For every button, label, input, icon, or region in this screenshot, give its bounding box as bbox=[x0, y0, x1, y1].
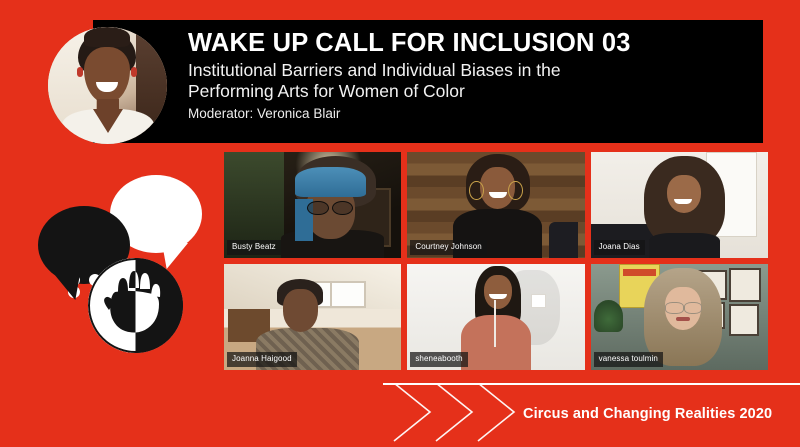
handprint-icon bbox=[88, 258, 183, 353]
participant-nameplate: sheneabooth bbox=[410, 352, 467, 367]
participant-tile[interactable]: Joanna Haigood bbox=[224, 264, 401, 370]
participant-tile[interactable]: Joana Dias bbox=[591, 152, 768, 258]
participant-nameplate: Joana Dias bbox=[594, 240, 645, 255]
moderator-label: Moderator: Veronica Blair bbox=[188, 106, 748, 121]
slide-canvas: WAKE UP CALL FOR INCLUSION 03 Institutio… bbox=[0, 0, 800, 445]
page-title: WAKE UP CALL FOR INCLUSION 03 bbox=[188, 29, 748, 57]
chevron-right-icon bbox=[390, 383, 438, 443]
chevron-right-icon bbox=[432, 383, 480, 443]
participant-tile[interactable]: sheneabooth bbox=[407, 264, 584, 370]
title-text-block: WAKE UP CALL FOR INCLUSION 03 Institutio… bbox=[188, 29, 748, 121]
chevron-group bbox=[390, 383, 530, 447]
participant-tile[interactable]: vanessa toulmin bbox=[591, 264, 768, 370]
subtitle-line-2: Performing Arts for Women of Color bbox=[188, 81, 748, 102]
footer-title: Circus and Changing Realities 2020 bbox=[523, 406, 772, 422]
video-grid: Busty Beatz Courtney Johnson Joana Dias bbox=[224, 152, 768, 370]
footer-banner: Circus and Changing Realities 2020 bbox=[383, 383, 800, 447]
subtitle-line-1: Institutional Barriers and Individual Bi… bbox=[188, 60, 748, 81]
participant-nameplate: vanessa toulmin bbox=[594, 352, 663, 367]
participant-nameplate: Joanna Haigood bbox=[227, 352, 297, 367]
participant-nameplate: Courtney Johnson bbox=[410, 240, 487, 255]
title-bar: WAKE UP CALL FOR INCLUSION 03 Institutio… bbox=[93, 20, 763, 143]
avatar bbox=[48, 27, 167, 144]
chevron-right-icon bbox=[474, 383, 522, 443]
organization-logo bbox=[28, 168, 193, 353]
participant-tile[interactable]: Courtney Johnson bbox=[407, 152, 584, 258]
participant-tile[interactable]: Busty Beatz bbox=[224, 152, 401, 258]
participant-nameplate: Busty Beatz bbox=[227, 240, 281, 255]
